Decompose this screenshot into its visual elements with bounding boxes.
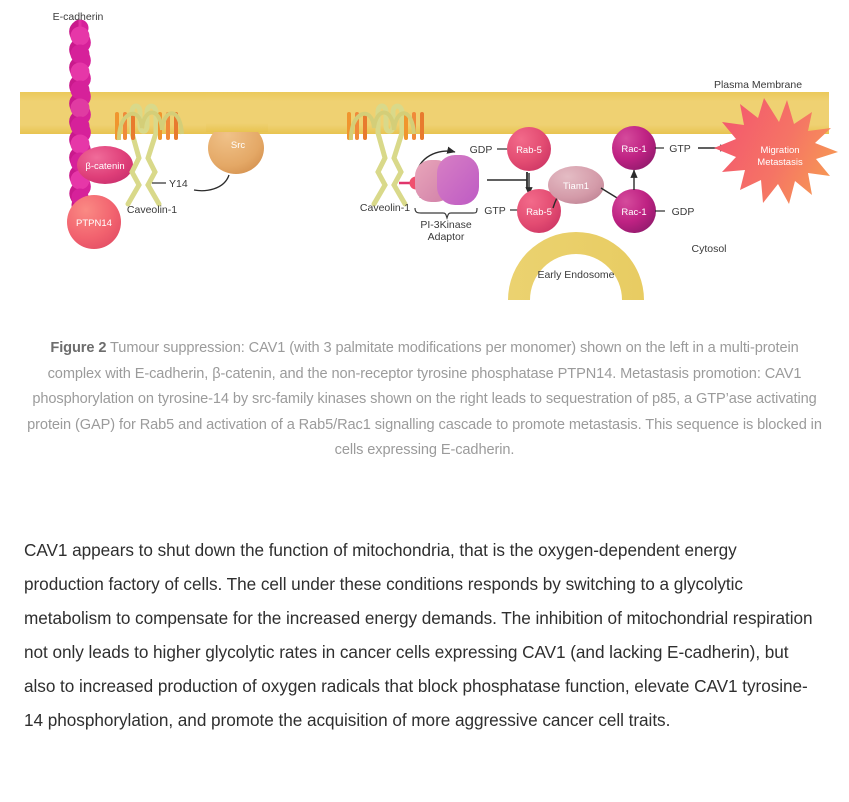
plasma-membrane-label: Plasma Membrane [714,79,802,91]
cytosol-label: Cytosol [691,243,726,255]
early-endosome [508,232,644,300]
rab5-top-label: Rab-5 [516,145,542,156]
figure-caption: Figure 2 Tumour suppression: CAV1 (with … [24,336,825,464]
pi3kinase-adaptor-label-1: PI-3Kinase [420,219,472,231]
tiam1-label: Tiam1 [563,181,589,192]
body-paragraph: CAV1 appears to shut down the function o… [24,533,816,737]
beta-catenin-label: β-catenin [85,161,124,172]
gdp-rab5-label: GDP [470,144,493,156]
gdp-rac1-label: GDP [672,206,695,218]
early-endosome-label: Early Endosome [537,269,614,281]
src-label: Src [231,140,246,151]
figure-image: Plasma Membrane E-cadherin β-catenin [0,0,849,325]
figure-number: Figure 2 [50,340,106,356]
figure-caption-text: Tumour suppression: CAV1 (with 3 palmita… [27,340,822,458]
rab5-bottom-label: Rab-5 [526,207,552,218]
src-to-y14-arrow [194,175,229,191]
pi3kinase-adaptor-complex [415,155,479,205]
caveolin-1-right [347,106,424,204]
pi3kinase-brace [415,208,477,218]
caveolin-1-left-label: Caveolin-1 [127,204,177,216]
ptpn14-label: PTPN14 [76,218,112,229]
migration-label: Migration [760,145,799,156]
rac1-bottom-label: Rac-1 [621,207,646,218]
gtp-rac1-label: GTP [669,143,691,155]
metastasis-label: Metastasis [757,157,803,168]
article-page: Plasma Membrane E-cadherin β-catenin [0,0,849,802]
pi3kinase-adaptor-label-2: Adaptor [428,231,465,243]
gtp-rab5-label: GTP [484,205,506,217]
e-cadherin-label: E-cadherin [53,11,104,23]
caveolin-1-right-label: Caveolin-1 [360,202,410,214]
rac1-top-label: Rac-1 [621,144,646,155]
y14-label: Y14 [169,178,188,190]
pi3k-inhibition-arrow [487,172,527,189]
src-kinase [206,92,268,174]
